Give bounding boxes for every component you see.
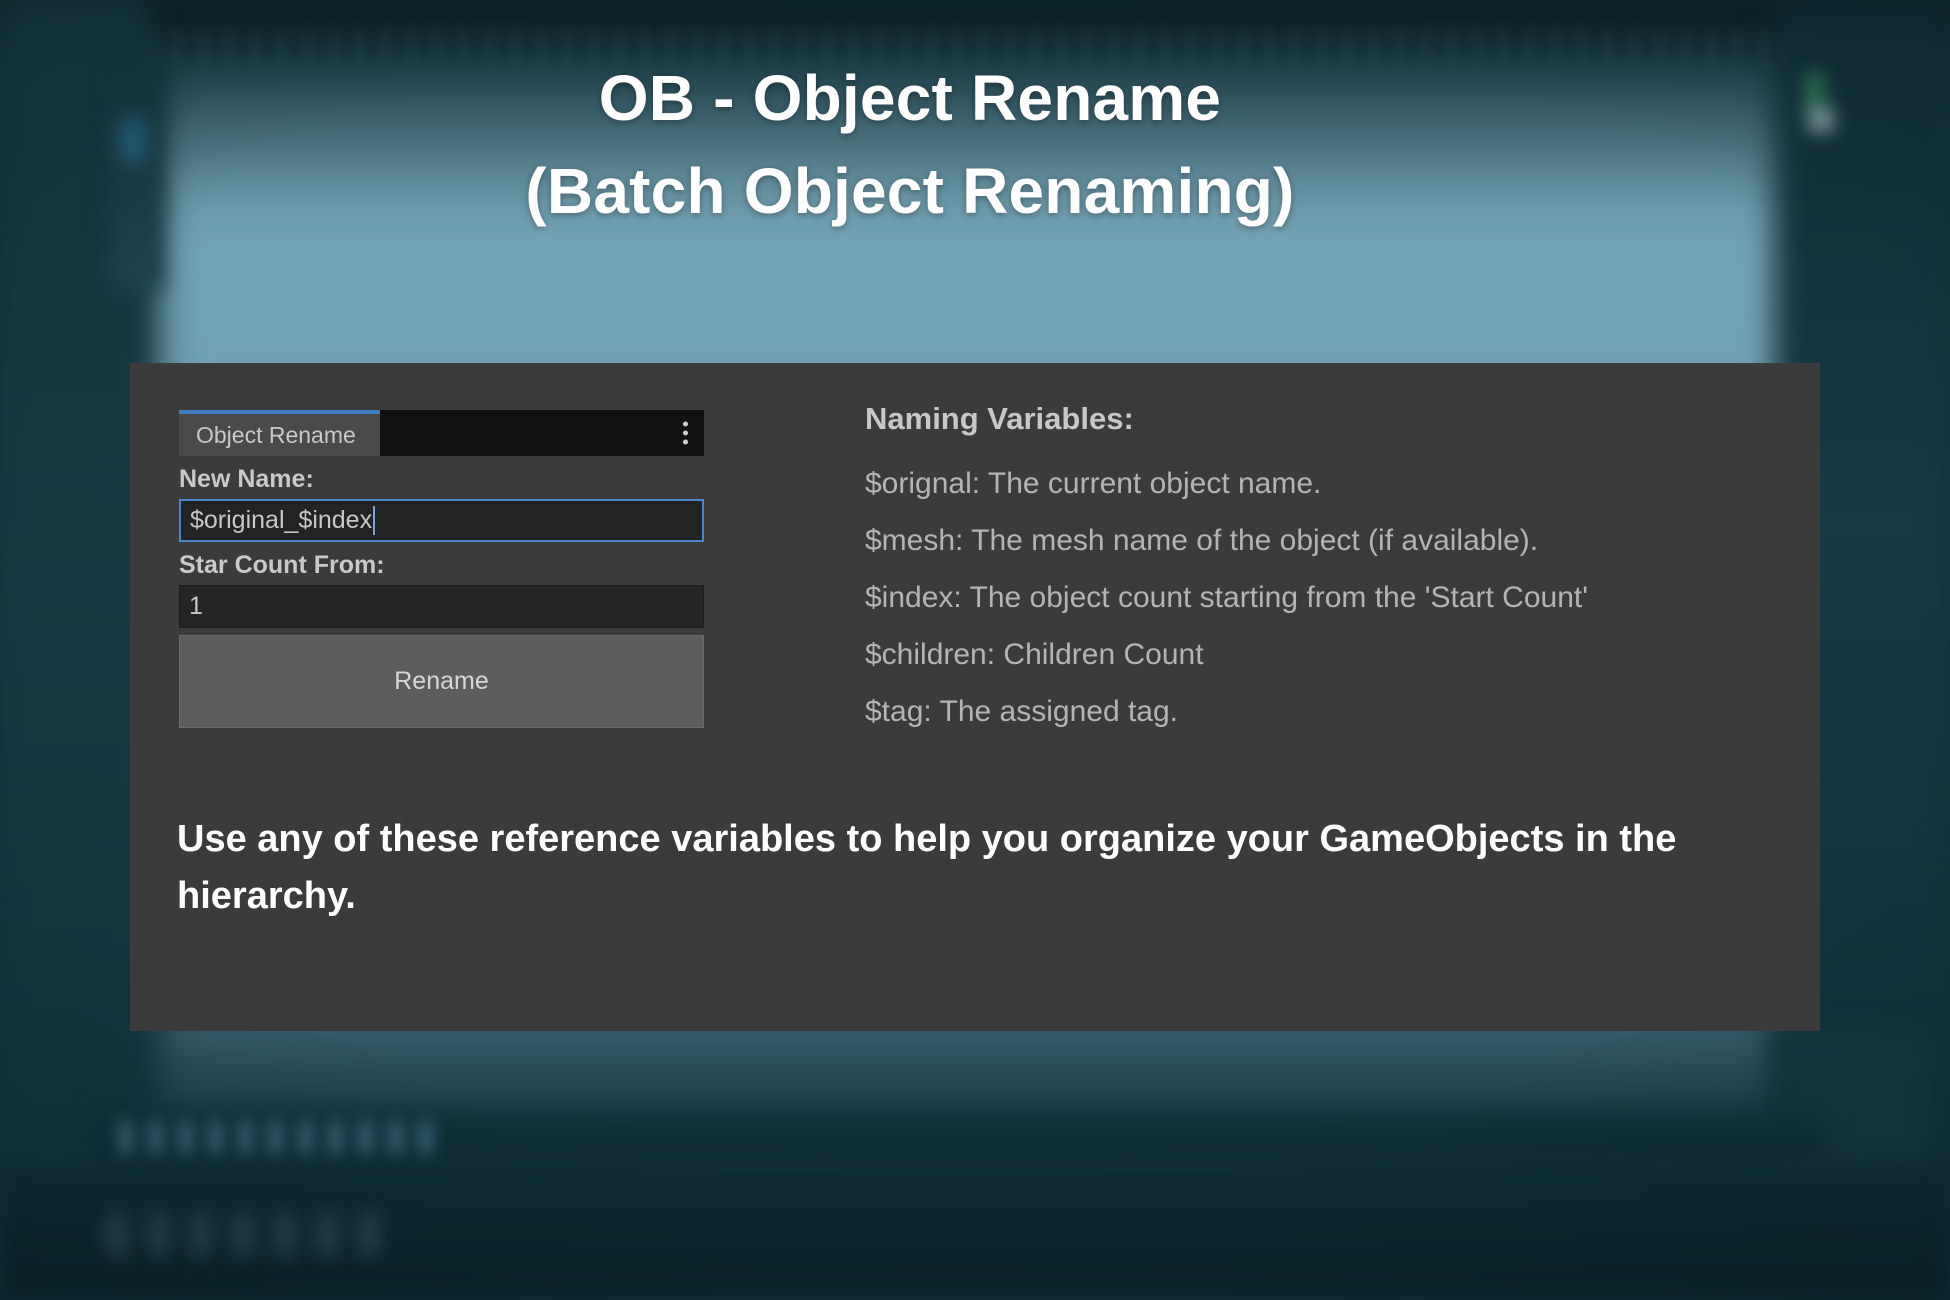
- widget-header: Object Rename: [179, 410, 704, 456]
- naming-variable-item: $children: Children Count: [865, 626, 1765, 683]
- slide-title-line-2: (Batch Object Renaming): [0, 145, 1820, 238]
- naming-variable-item: $orignal: The current object name.: [865, 455, 1765, 512]
- text-caret: [373, 506, 375, 535]
- new-name-input[interactable]: $original_$index: [179, 499, 704, 542]
- naming-variables-section: Naming Variables: $orignal: The current …: [865, 401, 1765, 740]
- start-count-input[interactable]: 1: [179, 585, 704, 628]
- tab-object-rename-label: Object Rename: [196, 422, 356, 449]
- kebab-dot-1: [683, 422, 688, 427]
- naming-variable-item: $mesh: The mesh name of the object (if a…: [865, 512, 1765, 569]
- object-rename-widget: Object Rename New Name: $original_$index…: [179, 410, 704, 728]
- content-card: Object Rename New Name: $original_$index…: [130, 363, 1820, 1031]
- naming-variable-item: $index: The object count starting from t…: [865, 569, 1765, 626]
- naming-variables-title: Naming Variables:: [865, 401, 1765, 437]
- kebab-dot-2: [683, 431, 688, 436]
- start-count-label: Star Count From:: [179, 551, 704, 580]
- new-name-input-value: $original_$index: [190, 506, 372, 535]
- card-caption: Use any of these reference variables to …: [177, 811, 1707, 925]
- slide-title: OB - Object Rename (Batch Object Renamin…: [0, 52, 1820, 238]
- kebab-dot-3: [683, 440, 688, 445]
- slide-title-line-1: OB - Object Rename: [0, 52, 1820, 145]
- slide-root: OB - Object Rename (Batch Object Renamin…: [0, 0, 1950, 1300]
- start-count-input-value: 1: [189, 592, 203, 621]
- rename-button-label: Rename: [394, 667, 489, 696]
- tab-object-rename[interactable]: Object Rename: [179, 410, 380, 456]
- new-name-label: New Name:: [179, 465, 704, 494]
- rename-button[interactable]: Rename: [179, 635, 704, 728]
- naming-variable-item: $tag: The assigned tag.: [865, 683, 1765, 740]
- kebab-menu-icon[interactable]: [683, 422, 688, 445]
